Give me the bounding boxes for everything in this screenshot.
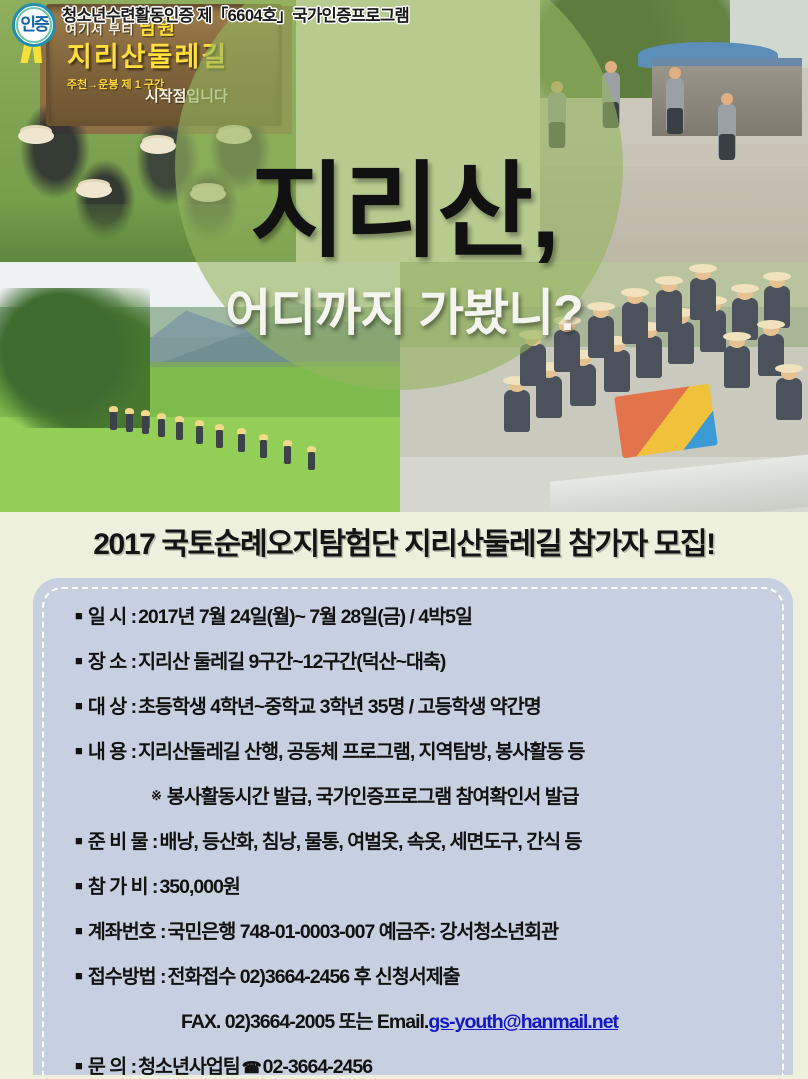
poster-subtitle: 어디까지 가봤니? [0, 288, 808, 338]
hiker-figure [260, 440, 267, 458]
detail-value: 지리산둘레길 산행, 공동체 프로그램, 지역탐방, 봉사활동 등 [138, 735, 584, 764]
fax-text: FAX. 02)3664-2005 또는 Email. [181, 1005, 428, 1034]
bullet-icon: ■ [75, 968, 82, 983]
hat-icon [18, 128, 54, 144]
detail-list: ■일 시 : 2017년 7월 24일(월)~ 7월 28일(금) / 4박5일… [33, 600, 793, 1075]
recruitment-headline: 2017 국토순례오지탐험단 지리산둘레길 참가자 모집! [0, 519, 808, 563]
inquiry-phone: 02-3664-2456 [263, 1056, 372, 1075]
seal-label: 인증 [12, 3, 56, 47]
detail-value: 350,000원 [159, 870, 239, 899]
bullet-icon: ■ [75, 923, 82, 938]
detail-label: 장 소 : [88, 645, 136, 674]
detail-value: 초등학생 4학년~중학교 3학년 35명 / 고등학생 약간명 [138, 690, 541, 719]
bullet-icon: ■ [75, 608, 82, 623]
detail-label: 내 용 : [88, 735, 136, 764]
hiker-figure [110, 412, 117, 430]
bullet-icon: ■ [75, 833, 82, 848]
detail-value: 전화접수 02)3664-2456 후 신청서제출 [168, 960, 460, 989]
inquiry-label: 문 의 : [88, 1050, 136, 1075]
group-banner [614, 384, 718, 459]
bullet-icon: ■ [75, 878, 82, 893]
hiker-figure [196, 426, 203, 444]
detail-row: ■장 소 : 지리산 둘레길 9구간~12구간(덕산~대축) [33, 645, 793, 674]
certification-seal-icon: 인증 [4, 1, 58, 53]
hiker-figure [176, 422, 183, 440]
detail-value: 지리산 둘레길 9구간~12구간(덕산~대축) [138, 645, 445, 674]
email-link[interactable]: gs-youth@hanmail.net [428, 1011, 618, 1034]
detail-value: 2017년 7월 24일(월)~ 7월 28일(금) / 4박5일 [138, 600, 472, 629]
detail-label: 접수방법 : [88, 960, 166, 989]
hiker-figure [238, 434, 245, 452]
bullet-icon: ■ [75, 698, 82, 713]
poster-title: 지리산, [0, 160, 808, 264]
detail-row: ■대 상 : 초등학생 4학년~중학교 3학년 35명 / 고등학생 약간명 [33, 690, 793, 719]
detail-row: ■계좌번호 : 국민은행 748-01-0003-007 예금주: 강서청소년회… [33, 915, 793, 944]
detail-label: 계좌번호 : [88, 915, 166, 944]
hiker-figure [126, 414, 133, 432]
fax-email-row: FAX. 02)3664-2005 또는 Email.gs-youth@hanm… [33, 1005, 793, 1034]
telephone-icon: ☎ [240, 1058, 263, 1075]
bullet-icon: ■ [75, 1058, 82, 1073]
inquiry-team: 청소년사업팀 [138, 1050, 240, 1075]
detail-row: ■일 시 : 2017년 7월 24일(월)~ 7월 28일(금) / 4박5일 [33, 600, 793, 629]
hiker-figure [142, 416, 149, 434]
poster-root: 여기서 부터 남원 지리산둘레길 주천→운봉 제 1 구간 시작점입니다 [0, 0, 808, 1079]
detail-row: ※봉사활동시간 발급, 국가인증프로그램 참여확인서 발급 [33, 780, 793, 809]
detail-row: ■참 가 비 : 350,000원 [33, 870, 793, 899]
detail-value: 봉사활동시간 발급, 국가인증프로그램 참여확인서 발급 [167, 780, 579, 809]
inquiry-row: ■문 의 : 청소년사업팀☎02-3664-2456 [33, 1050, 793, 1075]
detail-value: 국민은행 748-01-0003-007 예금주: 강서청소년회관 [168, 915, 559, 944]
detail-label: 일 시 : [88, 600, 136, 629]
certification-line: 청소년수련활동인증 제「6604호」국가인증프로그램 [62, 2, 409, 26]
hiker-figure [216, 430, 223, 448]
hiker-figure [284, 446, 291, 464]
person-figure [718, 104, 736, 160]
detail-label: 대 상 : [88, 690, 136, 719]
detail-row: ■접수방법 : 전화접수 02)3664-2456 후 신청서제출 [33, 960, 793, 989]
info-panel: ■일 시 : 2017년 7월 24일(월)~ 7월 28일(금) / 4박5일… [33, 578, 793, 1075]
person-figure [666, 78, 684, 134]
detail-label: 준 비 물 : [88, 825, 158, 854]
hat-icon [140, 138, 176, 154]
detail-row: ■준 비 물 : 배낭, 등산화, 침낭, 물통, 여벌옷, 속옷, 세면도구,… [33, 825, 793, 854]
bullet-icon: ■ [75, 743, 82, 758]
detail-row: ■내 용 : 지리산둘레길 산행, 공동체 프로그램, 지역탐방, 봉사활동 등 [33, 735, 793, 764]
bullet-icon: ■ [75, 653, 82, 668]
detail-label: 참 가 비 : [88, 870, 158, 899]
bullet-icon: ※ [151, 788, 161, 804]
hiker-figure [308, 452, 315, 470]
hiker-figure [158, 419, 165, 437]
detail-value: 배낭, 등산화, 침낭, 물통, 여벌옷, 속옷, 세면도구, 간식 등 [159, 825, 581, 854]
